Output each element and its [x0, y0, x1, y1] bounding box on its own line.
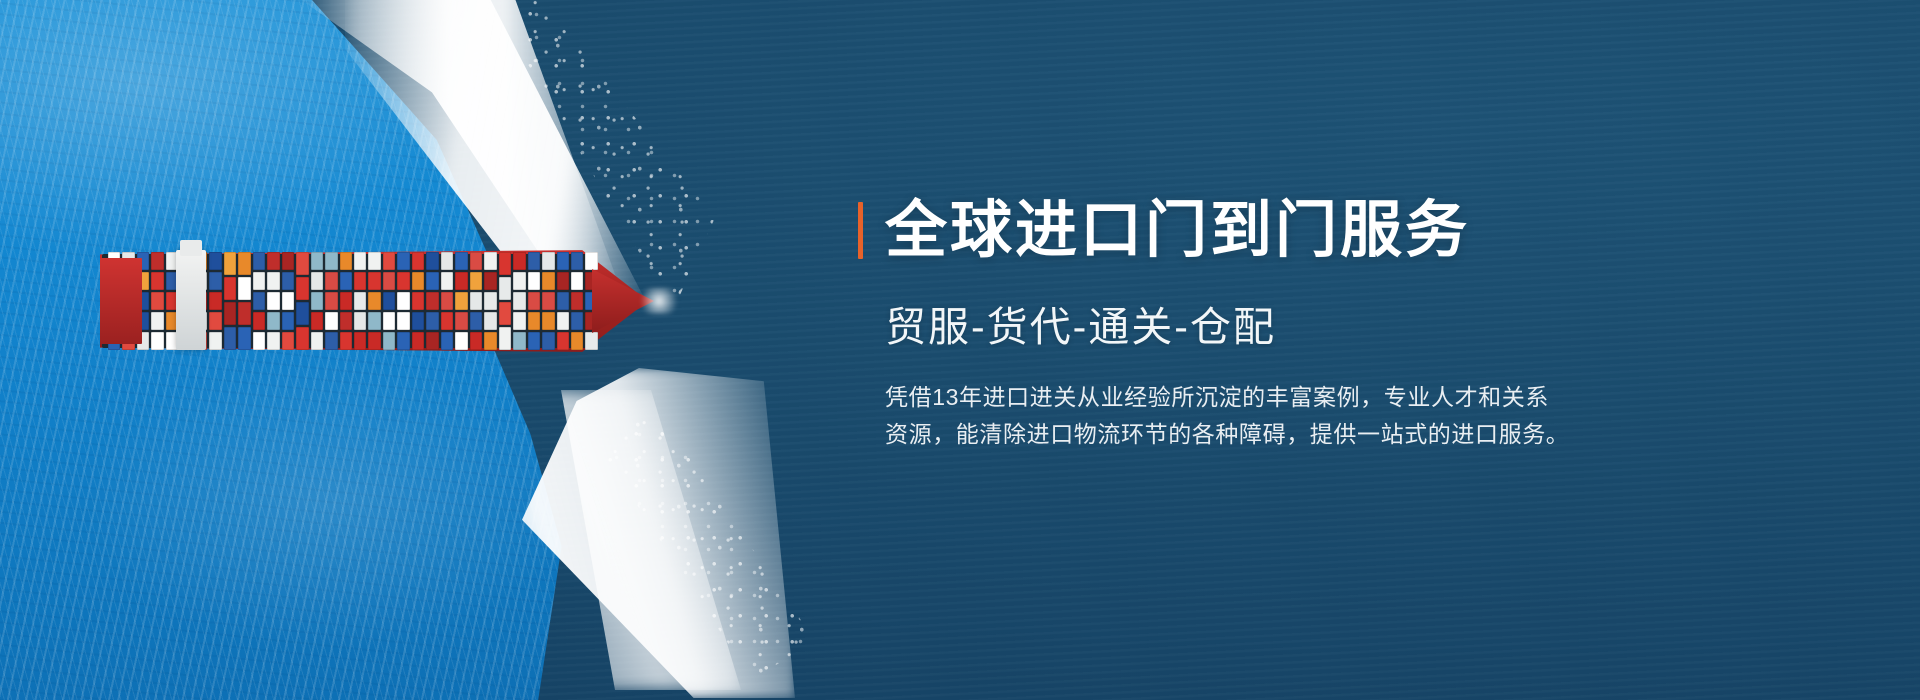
shipping-container: [397, 292, 409, 310]
shipping-container: [441, 252, 453, 270]
container-stack: [354, 252, 366, 350]
shipping-container: [441, 332, 453, 350]
shipping-container: [542, 332, 554, 350]
description-line-2: 资源，能清除进口物流环节的各种障碍，提供一站式的进口服务。: [885, 416, 1765, 453]
shipping-container: [253, 272, 265, 290]
shipping-container: [224, 252, 236, 275]
shipping-container: [311, 272, 323, 290]
shipping-container: [441, 312, 453, 330]
shipping-container: [253, 292, 265, 310]
container-stack: [499, 252, 511, 350]
shipping-container: [296, 327, 308, 350]
shipping-container: [267, 292, 279, 310]
shipping-container: [499, 302, 511, 325]
shipping-container: [282, 292, 294, 310]
container-stack: [209, 252, 221, 350]
shipping-container: [383, 252, 395, 270]
shipping-container: [354, 292, 366, 310]
shipping-container: [325, 312, 337, 330]
container-stack: [571, 252, 583, 350]
shipping-container: [209, 332, 221, 350]
shipping-container: [354, 272, 366, 290]
container-ship: [100, 248, 648, 354]
shipping-container: [528, 272, 540, 290]
shipping-container: [238, 252, 250, 275]
container-stack: [368, 252, 380, 350]
shipping-container: [397, 332, 409, 350]
shipping-container: [470, 252, 482, 270]
shipping-container: [470, 312, 482, 330]
shipping-container: [267, 332, 279, 350]
page-title: 全球进口门到门服务: [885, 196, 1470, 265]
shipping-container: [253, 252, 265, 270]
shipping-container: [311, 312, 323, 330]
shipping-container: [354, 252, 366, 270]
shipping-container: [528, 312, 540, 330]
shipping-container: [282, 272, 294, 290]
shipping-container: [296, 277, 308, 300]
shipping-container: [224, 327, 236, 350]
ship-stern: [100, 258, 142, 344]
container-stack: [253, 252, 265, 350]
shipping-container: [484, 292, 496, 310]
shipping-container: [209, 292, 221, 310]
shipping-container: [557, 332, 569, 350]
container-stack: [224, 252, 236, 350]
shipping-container: [340, 272, 352, 290]
shipping-container: [470, 272, 482, 290]
shipping-container: [455, 312, 467, 330]
shipping-container: [151, 332, 163, 350]
shipping-container: [368, 332, 380, 350]
shipping-container: [383, 272, 395, 290]
container-stack: [282, 252, 294, 350]
shipping-container: [253, 312, 265, 330]
shipping-container: [311, 292, 323, 310]
shipping-container: [151, 312, 163, 330]
shipping-container: [513, 292, 525, 310]
shipping-container: [557, 252, 569, 270]
container-stack: [455, 252, 467, 350]
shipping-container: [412, 312, 424, 330]
shipping-container: [238, 277, 250, 300]
shipping-container: [383, 332, 395, 350]
shipping-container: [368, 272, 380, 290]
container-stack: [267, 252, 279, 350]
shipping-container: [426, 252, 438, 270]
shipping-container: [513, 252, 525, 270]
shipping-container: [499, 327, 511, 350]
shipping-container: [513, 332, 525, 350]
shipping-container: [513, 312, 525, 330]
shipping-container: [426, 272, 438, 290]
shipping-container: [557, 312, 569, 330]
shipping-container: [441, 292, 453, 310]
shipping-container: [426, 332, 438, 350]
shipping-container: [412, 252, 424, 270]
headline-row: 全球进口门到门服务: [858, 196, 1808, 265]
shipping-container: [209, 312, 221, 330]
shipping-container: [383, 292, 395, 310]
container-stack: [441, 252, 453, 350]
container-stack: [557, 252, 569, 350]
shipping-container: [585, 332, 597, 350]
shipping-container: [151, 272, 163, 290]
shipping-container: [528, 292, 540, 310]
shipping-container: [340, 312, 352, 330]
shipping-container: [311, 252, 323, 270]
subtitle: 贸服-货代-通关-仓配: [885, 303, 1808, 352]
shipping-container: [267, 312, 279, 330]
shipping-container: [224, 302, 236, 325]
accent-bar: [858, 202, 863, 259]
shipping-container: [528, 252, 540, 270]
shipping-container: [325, 292, 337, 310]
shipping-container: [397, 272, 409, 290]
container-stack: [325, 252, 337, 350]
shipping-container: [585, 252, 597, 270]
shipping-container: [325, 332, 337, 350]
shipping-container: [282, 312, 294, 330]
shipping-container: [571, 292, 583, 310]
shipping-container: [571, 312, 583, 330]
shipping-container: [368, 252, 380, 270]
shipping-container: [557, 272, 569, 290]
container-stack: [151, 252, 163, 350]
container-stack: [296, 252, 308, 350]
shipping-container: [325, 272, 337, 290]
ship-bridge: [176, 250, 206, 350]
shipping-container: [354, 332, 366, 350]
shipping-container: [267, 272, 279, 290]
shipping-container: [151, 292, 163, 310]
shipping-container: [282, 252, 294, 270]
shipping-container: [267, 252, 279, 270]
shipping-container: [397, 252, 409, 270]
shipping-container: [528, 332, 540, 350]
container-stack: [470, 252, 482, 350]
shipping-container: [426, 312, 438, 330]
shipping-container: [296, 252, 308, 275]
shipping-container: [224, 277, 236, 300]
shipping-container: [484, 272, 496, 290]
shipping-container: [354, 312, 366, 330]
container-stack: [340, 252, 352, 350]
shipping-container: [484, 252, 496, 270]
shipping-container: [412, 272, 424, 290]
shipping-container: [340, 252, 352, 270]
shipping-container: [412, 332, 424, 350]
container-stack: [412, 252, 424, 350]
shipping-container: [426, 292, 438, 310]
shipping-container: [571, 272, 583, 290]
shipping-container: [455, 292, 467, 310]
shipping-container: [282, 332, 294, 350]
container-stack: [542, 252, 554, 350]
shipping-container: [499, 277, 511, 300]
shipping-container: [455, 332, 467, 350]
container-stack: [528, 252, 540, 350]
bow-foam: [636, 288, 682, 314]
shipping-container: [542, 312, 554, 330]
shipping-container: [325, 252, 337, 270]
shipping-container: [455, 272, 467, 290]
shipping-container: [470, 332, 482, 350]
shipping-container: [571, 252, 583, 270]
container-stack: [426, 252, 438, 350]
ship-bridge-top: [180, 240, 202, 256]
shipping-container: [340, 292, 352, 310]
shipping-container: [296, 302, 308, 325]
container-stack: [383, 252, 395, 350]
hero-text-block: 全球进口门到门服务 贸服-货代-通关-仓配 凭借13年进口进关从业经验所沉淀的丰…: [858, 196, 1808, 453]
shipping-container: [571, 332, 583, 350]
shipping-container: [542, 292, 554, 310]
shipping-container: [238, 327, 250, 350]
description-line-1: 凭借13年进口进关从业经验所沉淀的丰富案例，专业人才和关系: [885, 379, 1765, 416]
shipping-container: [209, 272, 221, 290]
shipping-container: [368, 292, 380, 310]
shipping-container: [412, 292, 424, 310]
shipping-container: [311, 332, 323, 350]
shipping-container: [542, 252, 554, 270]
shipping-container: [441, 272, 453, 290]
container-stack: [513, 252, 525, 350]
shipping-container: [253, 332, 265, 350]
shipping-container: [368, 312, 380, 330]
container-stack: [397, 252, 409, 350]
shipping-container: [397, 312, 409, 330]
shipping-container: [209, 252, 221, 270]
shipping-container: [484, 332, 496, 350]
shipping-container: [557, 292, 569, 310]
shipping-container: [470, 292, 482, 310]
shipping-container: [151, 252, 163, 270]
shipping-container: [542, 272, 554, 290]
shipping-container: [383, 312, 395, 330]
shipping-container: [484, 312, 496, 330]
container-stack: [238, 252, 250, 350]
description: 凭借13年进口进关从业经验所沉淀的丰富案例，专业人才和关系 资源，能清除进口物流…: [885, 379, 1765, 454]
container-stack: [484, 252, 496, 350]
shipping-container: [513, 272, 525, 290]
shipping-container: [499, 252, 511, 275]
container-stack: [311, 252, 323, 350]
shipping-container: [455, 252, 467, 270]
shipping-container: [238, 302, 250, 325]
hero-banner: 全球进口门到门服务 贸服-货代-通关-仓配 凭借13年进口进关从业经验所沉淀的丰…: [0, 0, 1920, 700]
shipping-container: [340, 332, 352, 350]
